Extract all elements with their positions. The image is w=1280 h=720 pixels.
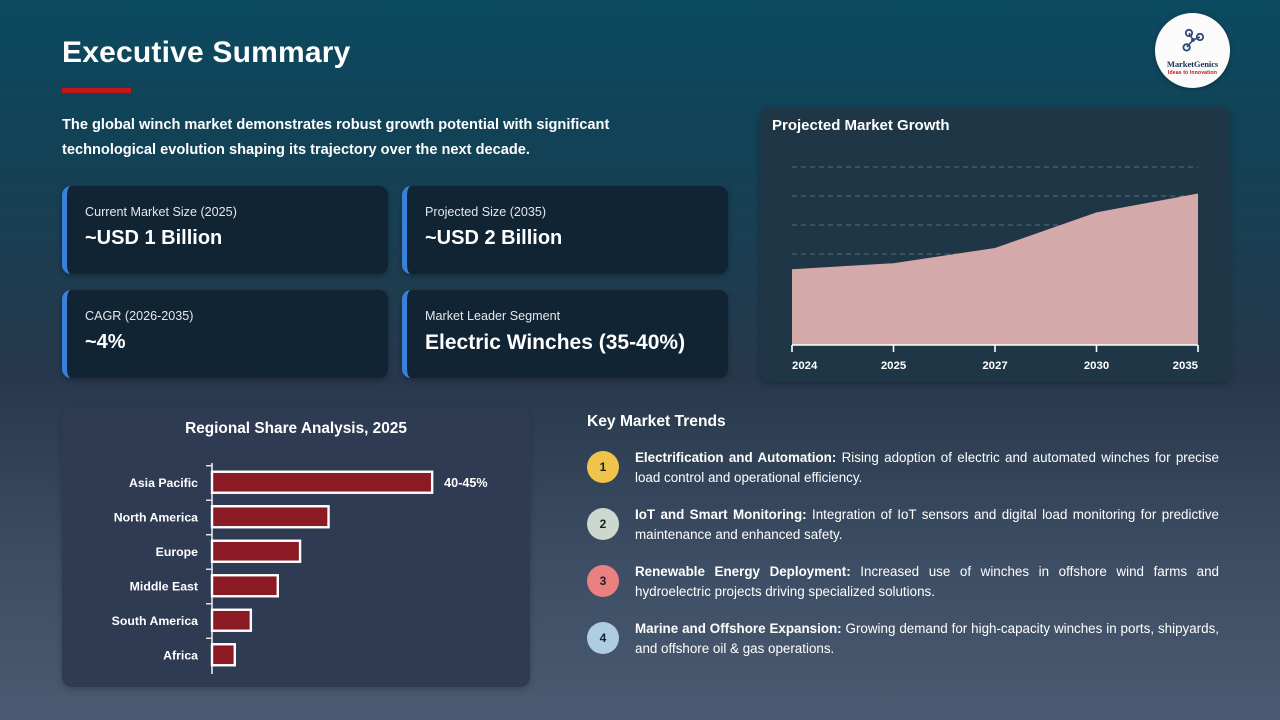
molecule-network-icon xyxy=(1180,28,1206,57)
trend-number-badge: 1 xyxy=(587,451,619,483)
svg-text:2030: 2030 xyxy=(1084,360,1109,372)
svg-text:2024: 2024 xyxy=(792,360,818,372)
growth-axis xyxy=(792,345,1198,352)
trend-description: Renewable Energy Deployment: Increased u… xyxy=(635,562,1219,601)
logo-tagline: Ideas to Innovation xyxy=(1168,70,1217,76)
slide-root: Executive Summary The global winch marke… xyxy=(0,0,1280,720)
metric-card-current-market-size: Current Market Size (2025) ~USD 1 Billio… xyxy=(62,186,388,274)
regional-category-labels: Asia PacificNorth AmericaEuropeMiddle Ea… xyxy=(112,476,198,663)
regional-axis xyxy=(206,463,212,674)
trend-item: 2IoT and Smart Monitoring: Integration o… xyxy=(587,505,1227,545)
svg-text:Middle East: Middle East xyxy=(130,579,198,593)
metric-card-cagr: CAGR (2026-2035) ~4% xyxy=(62,290,388,378)
trend-number-badge: 3 xyxy=(587,565,619,597)
svg-text:Africa: Africa xyxy=(163,648,198,662)
regional-bars xyxy=(212,472,432,666)
trend-description: Marine and Offshore Expansion: Growing d… xyxy=(635,619,1219,658)
projected-market-growth-panel: Projected Market Growth 2024202520272030… xyxy=(760,107,1230,382)
svg-text:2027: 2027 xyxy=(982,360,1007,372)
regional-bar-chart: Asia PacificNorth AmericaEuropeMiddle Ea… xyxy=(62,407,530,687)
trend-title: Electrification and Automation: xyxy=(635,450,836,465)
logo-wordmark: MarketGenics xyxy=(1167,59,1218,69)
svg-text:South America: South America xyxy=(112,614,198,628)
growth-x-tick-labels: 20242025202720302035 xyxy=(792,360,1199,372)
metric-value: ~USD 2 Billion xyxy=(425,227,562,250)
trend-description: Electrification and Automation: Rising a… xyxy=(635,448,1219,487)
svg-text:North America: North America xyxy=(114,510,198,524)
growth-area-chart: 20242025202720302035 xyxy=(760,107,1230,382)
trend-title: IoT and Smart Monitoring: xyxy=(635,507,807,522)
trend-title: Marine and Offshore Expansion: xyxy=(635,621,842,636)
page-subtitle: The global winch market demonstrates rob… xyxy=(62,113,692,163)
metric-value: ~4% xyxy=(85,331,126,354)
metric-value: Electric Winches (35-40%) xyxy=(425,331,685,355)
svg-text:2025: 2025 xyxy=(881,360,907,372)
trends-list: 1Electrification and Automation: Rising … xyxy=(587,448,1227,676)
metric-label: Market Leader Segment xyxy=(425,309,560,323)
metric-label: Current Market Size (2025) xyxy=(85,205,237,219)
trends-heading: Key Market Trends xyxy=(587,413,726,431)
page-title: Executive Summary xyxy=(62,36,351,70)
svg-text:40-45%: 40-45% xyxy=(444,476,487,490)
svg-text:Asia Pacific: Asia Pacific xyxy=(129,476,198,490)
trend-item: 4Marine and Offshore Expansion: Growing … xyxy=(587,619,1227,659)
brand-logo: MarketGenics Ideas to Innovation xyxy=(1155,13,1230,88)
trend-number-badge: 4 xyxy=(587,622,619,654)
trend-title: Renewable Energy Deployment: xyxy=(635,564,851,579)
metric-card-market-leader-segment: Market Leader Segment Electric Winches (… xyxy=(402,290,728,378)
trend-description: IoT and Smart Monitoring: Integration of… xyxy=(635,505,1219,544)
svg-text:2035: 2035 xyxy=(1173,360,1199,372)
title-underline-rule xyxy=(62,88,131,93)
svg-text:Europe: Europe xyxy=(156,545,199,559)
growth-area-series xyxy=(792,194,1198,346)
regional-share-panel: Regional Share Analysis, 2025 Asia Pacif… xyxy=(62,407,530,687)
trend-item: 3Renewable Energy Deployment: Increased … xyxy=(587,562,1227,602)
metric-card-projected-size: Projected Size (2035) ~USD 2 Billion xyxy=(402,186,728,274)
metric-label: CAGR (2026-2035) xyxy=(85,309,194,323)
metric-label: Projected Size (2035) xyxy=(425,205,546,219)
metric-value: ~USD 1 Billion xyxy=(85,227,222,250)
trend-number-badge: 2 xyxy=(587,508,619,540)
trend-item: 1Electrification and Automation: Rising … xyxy=(587,448,1227,488)
regional-value-labels: 40-45% xyxy=(444,476,487,490)
